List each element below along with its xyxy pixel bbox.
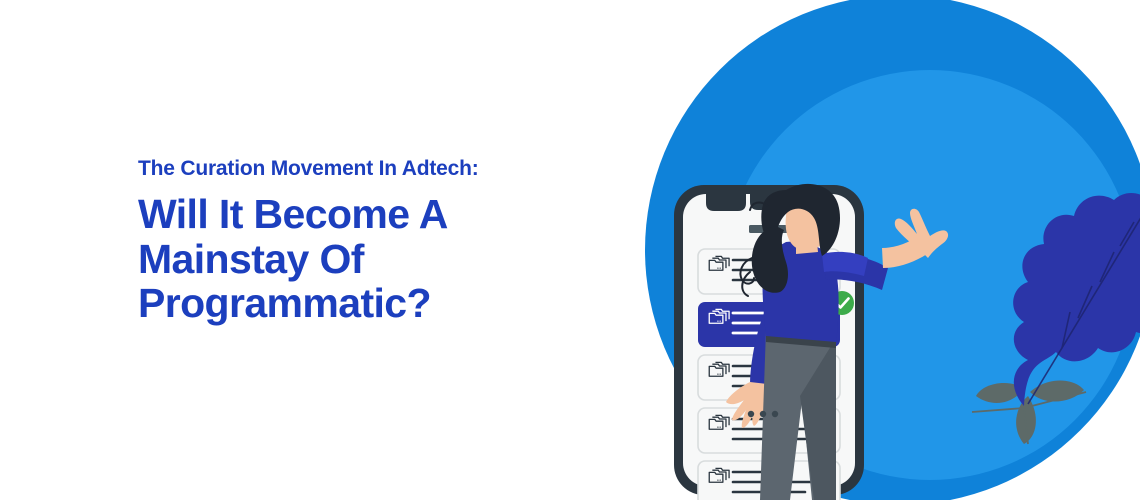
- headline-line-3: Programmatic?: [138, 281, 618, 325]
- eyebrow-text: The Curation Movement In Adtech:: [138, 156, 618, 182]
- headline-line-2: Mainstay Of: [138, 237, 618, 281]
- hero-illustration: [600, 0, 1140, 500]
- headline-line-1: Will It Become A: [138, 192, 618, 236]
- headline-block: The Curation Movement In Adtech: Will It…: [138, 156, 618, 325]
- page-title: Will It Become A Mainstay Of Programmati…: [138, 192, 618, 325]
- article-hero-banner: The Curation Movement In Adtech: Will It…: [0, 0, 1140, 500]
